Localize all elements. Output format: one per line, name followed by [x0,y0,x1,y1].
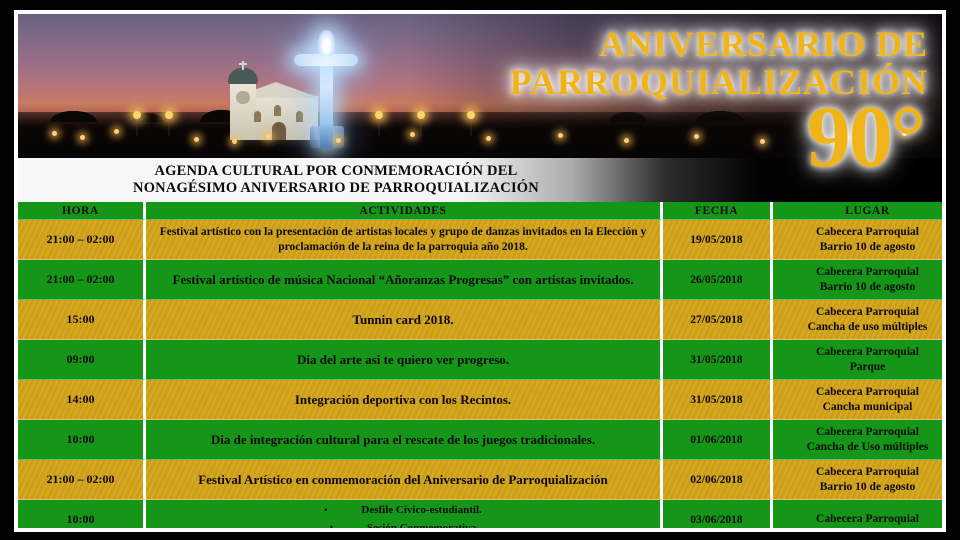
church-belfry [236,91,250,104]
table-row: 21:00 – 02:00Festival Artístico en conme… [18,460,946,500]
agenda-heading-line2: NONAGÉSIMO ANIVERSARIO DE PARROQUIALIZAC… [26,180,646,197]
lugar-line1: Cabecera Parroquial [777,305,946,320]
lugar-line2: Cancha de uso múltiples [777,320,946,335]
cell-fecha: 02/06/2018 [663,460,773,500]
bullet-dot-icon: • [330,522,333,532]
lugar-line1: Cabecera Parroquial [777,385,946,400]
table-header-row: HORA ACTIVIDADES FECHA LUGAR [18,202,946,220]
lugar-line1: Cabecera Parroquial [777,465,946,480]
cell-actividad: Dia de integración cultural para el resc… [146,420,663,460]
cell-lugar: Cabecera ParroquialCancha municipal [773,380,946,420]
table-row: 21:00 – 02:00Festival artístico con la p… [18,220,946,260]
activity-bullet-label: Desfile Cívico-estudiantil. [361,504,481,516]
cell-fecha: 19/05/2018 [663,220,773,260]
poster-inner-frame: ANIVERSARIO DE PARROQUIALIZACIÓN 90° AGE… [14,10,946,532]
table-row: 21:00 – 02:00Festival artístico de músic… [18,260,946,300]
lugar-line2: Barrio 10 de agosto [777,280,946,295]
cell-hora: 10:00 [18,500,146,532]
church-cross-icon [242,61,244,70]
cell-hora: 21:00 – 02:00 [18,460,146,500]
cell-fecha: 03/06/2018 [663,500,773,532]
agenda-table-header: HORA ACTIVIDADES FECHA LUGAR [18,202,946,220]
lugar-line2: Barrio 10 de agosto [777,480,946,495]
cross-top-glow [318,30,335,56]
agenda-table-body: 21:00 – 02:00Festival artístico con la p… [18,220,946,532]
lugar-line2: Parque [777,360,946,375]
cell-hora: 21:00 – 02:00 [18,220,146,260]
lugar-line1: Cabecera Parroquial [777,512,946,527]
column-header-actividades: ACTIVIDADES [146,202,663,220]
cell-actividad: Dia del arte asi te quiero ver progreso. [146,340,663,380]
cell-lugar: Cabecera ParroquialCancha de Uso múltipl… [773,420,946,460]
cell-fecha: 31/05/2018 [663,380,773,420]
poster-title: ANIVERSARIO DE PARROQUIALIZACIÓN 90° [388,26,928,180]
lugar-line2: Cancha municipal [777,400,946,415]
activity-bullet-label: Sesión Conmemorativa [367,522,476,533]
lugar-line1: Cabecera Parroquial [777,225,946,240]
table-row: 10:00•Desfile Cívico-estudiantil.•Sesión… [18,500,946,532]
lugar-line1: Cabecera Parroquial [777,265,946,280]
event-poster: ANIVERSARIO DE PARROQUIALIZACIÓN 90° AGE… [0,0,960,540]
cell-hora: 09:00 [18,340,146,380]
cell-lugar: Cabecera ParroquialBarrio 10 de agosto [773,260,946,300]
bullet-dot-icon: • [324,505,327,516]
cell-hora: 14:00 [18,380,146,420]
cell-fecha: 27/05/2018 [663,300,773,340]
cell-lugar: Cabecera ParroquialCancha de uso múltipl… [773,300,946,340]
agenda-heading-band: AGENDA CULTURAL POR CONMEMORACIÓN DEL NO… [18,158,942,202]
activity-bullet-list: •Desfile Cívico-estudiantil.•Sesión Conm… [150,502,656,532]
activity-bullet-item: •Sesión Conmemorativa [150,520,656,533]
agenda-heading-line1: AGENDA CULTURAL POR CONMEMORACIÓN DEL [26,163,646,180]
table-row: 10:00Dia de integración cultural para el… [18,420,946,460]
activity-bullet-item: •Desfile Cívico-estudiantil. [150,502,656,519]
column-header-hora: HORA [18,202,146,220]
column-header-fecha: FECHA [663,202,773,220]
cell-hora: 10:00 [18,420,146,460]
cell-actividad: Festival Artístico en conmemoración del … [146,460,663,500]
lugar-line2: Cancha de Uso múltiples [777,440,946,455]
cell-actividad: Tunnin card 2018. [146,300,663,340]
cell-hora: 15:00 [18,300,146,340]
cell-fecha: 26/05/2018 [663,260,773,300]
lugar-line1: Cabecera Parroquial [777,345,946,360]
table-row: 15:00Tunnin card 2018.27/05/2018Cabecera… [18,300,946,340]
cell-fecha: 31/05/2018 [663,340,773,380]
cell-actividad: Integración deportiva con los Recintos. [146,380,663,420]
cell-lugar: Cabecera ParroquialParque [773,340,946,380]
cell-lugar: Cabecera ParroquialBarrio 10 de agosto [773,460,946,500]
church-dome [228,68,258,84]
poster-title-line1: ANIVERSARIO DE [388,26,928,62]
cell-fecha: 01/06/2018 [663,420,773,460]
cell-lugar: Cabecera ParroquialBarrio 10 de agosto [773,220,946,260]
cell-hora: 21:00 – 02:00 [18,260,146,300]
cell-actividad: Festival artístico de música Nacional “A… [146,260,663,300]
column-header-lugar: LUGAR [773,202,946,220]
agenda-heading-text: AGENDA CULTURAL POR CONMEMORACIÓN DEL NO… [18,163,646,197]
cell-actividad: •Desfile Cívico-estudiantil.•Sesión Conm… [146,500,663,532]
agenda-table: HORA ACTIVIDADES FECHA LUGAR 21:00 – 02:… [18,202,946,532]
cell-actividad: Festival artístico con la presentación d… [146,220,663,260]
lugar-line1: Cabecera Parroquial [777,425,946,440]
table-row: 14:00Integración deportiva con los Recin… [18,380,946,420]
table-row: 09:00Dia del arte asi te quiero ver prog… [18,340,946,380]
cell-lugar: Cabecera Parroquial [773,500,946,532]
lugar-line2: Barrio 10 de agosto [777,240,946,255]
